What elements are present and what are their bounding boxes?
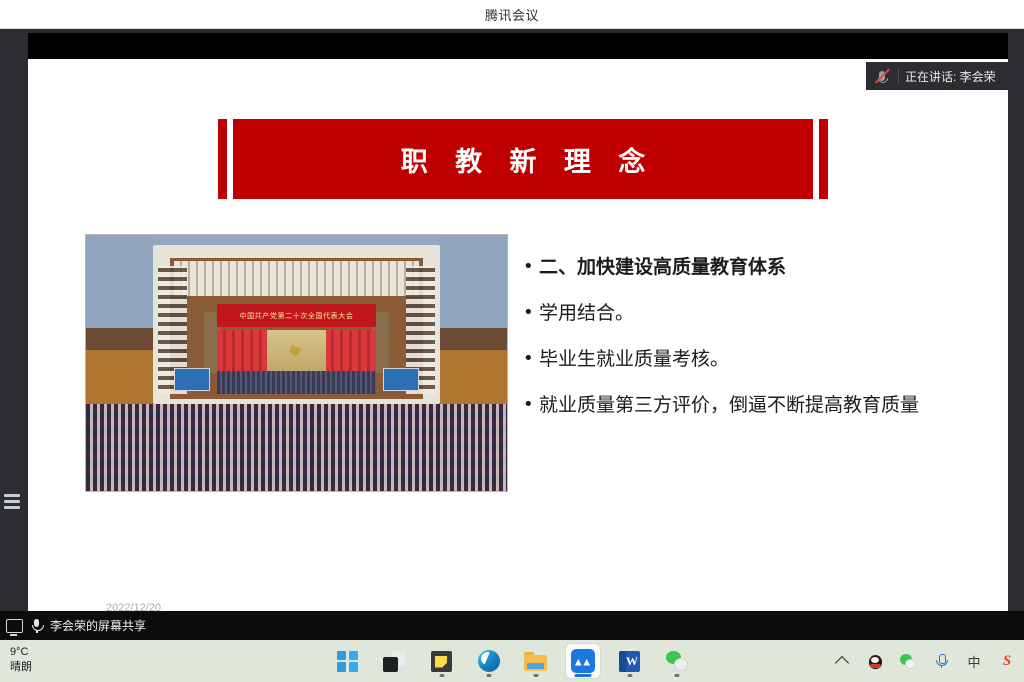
letterbox-band-top xyxy=(28,33,1008,59)
chevron-up-icon xyxy=(835,656,849,670)
wechat-icon xyxy=(900,654,916,669)
bullet-marker: • xyxy=(523,254,539,280)
left-rail xyxy=(0,29,28,640)
microphone-icon xyxy=(935,653,947,669)
great-hall-congress-photo: 中国共产党第二十次全国代表大会 xyxy=(85,234,508,492)
list-item: • 学用结合。 xyxy=(523,300,983,326)
title-banner-body: 职 教 新 理 念 xyxy=(233,119,813,199)
list-item: • 毕业生就业质量考核。 xyxy=(523,346,983,372)
bullet-text: 学用结合。 xyxy=(539,300,634,326)
speaking-label: 正在讲话: 李会荣 xyxy=(905,68,996,85)
bullet-marker: • xyxy=(523,346,539,372)
bullet-text: 毕业生就业质量考核。 xyxy=(539,346,729,372)
start-button[interactable] xyxy=(331,644,365,678)
screen-share-stage: 职 教 新 理 念 中国共产党第二十次全国代表大会 xyxy=(0,29,1024,640)
ime-chinese-icon: 中 xyxy=(967,652,980,671)
running-indicator xyxy=(439,674,444,677)
badge-divider xyxy=(898,68,899,84)
photo-banner-text: 中国共产党第二十次全国代表大会 xyxy=(239,311,353,321)
task-view-icon xyxy=(383,651,406,672)
system-tray: 中 S xyxy=(833,640,1016,682)
wechat-tray-icon[interactable] xyxy=(899,652,917,670)
ime-indicator[interactable]: 中 xyxy=(965,652,983,670)
title-accent-bar-right xyxy=(819,119,828,199)
windows-taskbar: 9°C 晴朗 xyxy=(0,640,1024,682)
slide-bullet-list: • 二、加快建设高质量教育体系 • 学用结合。 • 毕业生就业质量考核。 • 就… xyxy=(523,254,983,438)
folder-icon xyxy=(524,652,547,671)
window-titlebar: 腾讯会议 xyxy=(0,0,1024,29)
list-item: • 二、加快建设高质量教育体系 xyxy=(523,254,983,280)
tencent-meeting-icon xyxy=(571,649,595,673)
mic-muted-icon xyxy=(872,66,892,86)
qq-icon xyxy=(868,653,883,670)
photo-stage-banner: 中国共产党第二十次全国代表大会 xyxy=(217,304,377,327)
wechat-app[interactable] xyxy=(660,644,694,678)
word-app[interactable]: W xyxy=(613,644,647,678)
show-hidden-icons-button[interactable] xyxy=(833,652,851,670)
tencent-meeting-app[interactable] xyxy=(566,644,600,678)
sticky-notes-app[interactable] xyxy=(425,644,459,678)
wechat-icon xyxy=(666,651,688,671)
microphone-tray-icon[interactable] xyxy=(932,652,950,670)
windows-start-icon xyxy=(337,651,358,672)
qq-tray-icon[interactable] xyxy=(866,652,884,670)
microphone-icon[interactable] xyxy=(30,618,43,633)
slide-title-text: 职 教 新 理 念 xyxy=(392,140,655,179)
sticky-notes-icon xyxy=(431,651,452,672)
window-title: 腾讯会议 xyxy=(485,5,539,24)
edge-icon xyxy=(478,650,500,672)
bullet-text: 二、加快建设高质量教育体系 xyxy=(539,254,786,280)
screen-share-statusbar: 李会荣的屏幕共享 xyxy=(0,611,1024,640)
edge-app[interactable] xyxy=(472,644,506,678)
sogou-input-button[interactable]: S xyxy=(998,652,1016,670)
running-indicator xyxy=(627,674,632,677)
list-menu-icon[interactable] xyxy=(4,491,24,511)
file-explorer-app[interactable] xyxy=(519,644,553,678)
screen-share-label: 李会荣的屏幕共享 xyxy=(50,617,146,634)
bullet-marker: • xyxy=(523,392,539,418)
running-indicator xyxy=(674,674,679,677)
slide-title-banner: 职 教 新 理 念 xyxy=(218,119,828,199)
active-indicator xyxy=(574,674,591,677)
bullet-marker: • xyxy=(523,300,539,326)
shared-slide: 职 教 新 理 念 中国共产党第二十次全国代表大会 xyxy=(28,59,1008,640)
sogou-icon: S xyxy=(999,653,1016,670)
monitor-icon xyxy=(6,619,23,633)
running-indicator xyxy=(486,674,491,677)
bullet-text: 就业质量第三方评价，倒逼不断提高教育质量 xyxy=(539,392,919,418)
task-view-button[interactable] xyxy=(378,644,412,678)
list-item: • 就业质量第三方评价，倒逼不断提高教育质量 xyxy=(523,392,983,418)
title-accent-bar-left xyxy=(218,119,227,199)
running-indicator xyxy=(533,674,538,677)
word-icon: W xyxy=(619,651,640,672)
speaking-indicator: 正在讲话: 李会荣 xyxy=(866,62,1008,90)
